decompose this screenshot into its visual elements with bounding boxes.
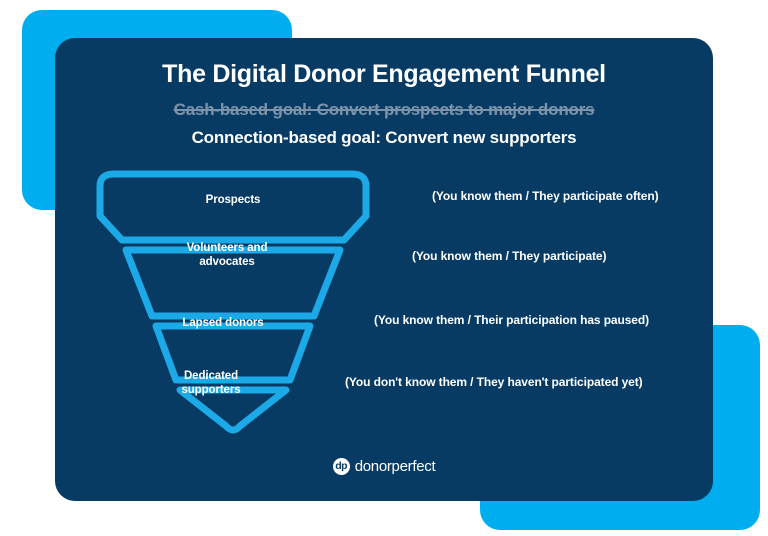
funnel-diagram: [88, 168, 378, 438]
funnel-segment-4-shape: [180, 390, 286, 430]
main-card: The Digital Donor Engagement Funnel Cash…: [55, 38, 713, 501]
funnel-note-2: (You know them / They participate): [412, 249, 606, 263]
funnel-segment-2-shape: [126, 250, 340, 316]
funnel-note-1: (You know them / They participate often): [432, 189, 658, 203]
funnel-note-4: (You don't know them / They haven't part…: [345, 375, 643, 389]
funnel-segment-1-shape: [100, 174, 366, 240]
brand-logo-text: donorperfect: [355, 458, 436, 475]
subtitle-struck-through: Cash-based goal: Convert prospects to ma…: [55, 100, 713, 120]
donorperfect-mark-icon: dp: [333, 458, 350, 475]
funnel-note-3: (You know them / Their participation has…: [374, 313, 649, 327]
funnel-segment-3-shape: [156, 326, 310, 380]
funnel-svg: [88, 168, 378, 438]
brand-logo: dp donorperfect: [55, 458, 713, 475]
subtitle-active: Connection-based goal: Convert new suppo…: [55, 128, 713, 148]
infographic-canvas: The Digital Donor Engagement Funnel Cash…: [0, 0, 768, 536]
page-title: The Digital Donor Engagement Funnel: [55, 60, 713, 89]
